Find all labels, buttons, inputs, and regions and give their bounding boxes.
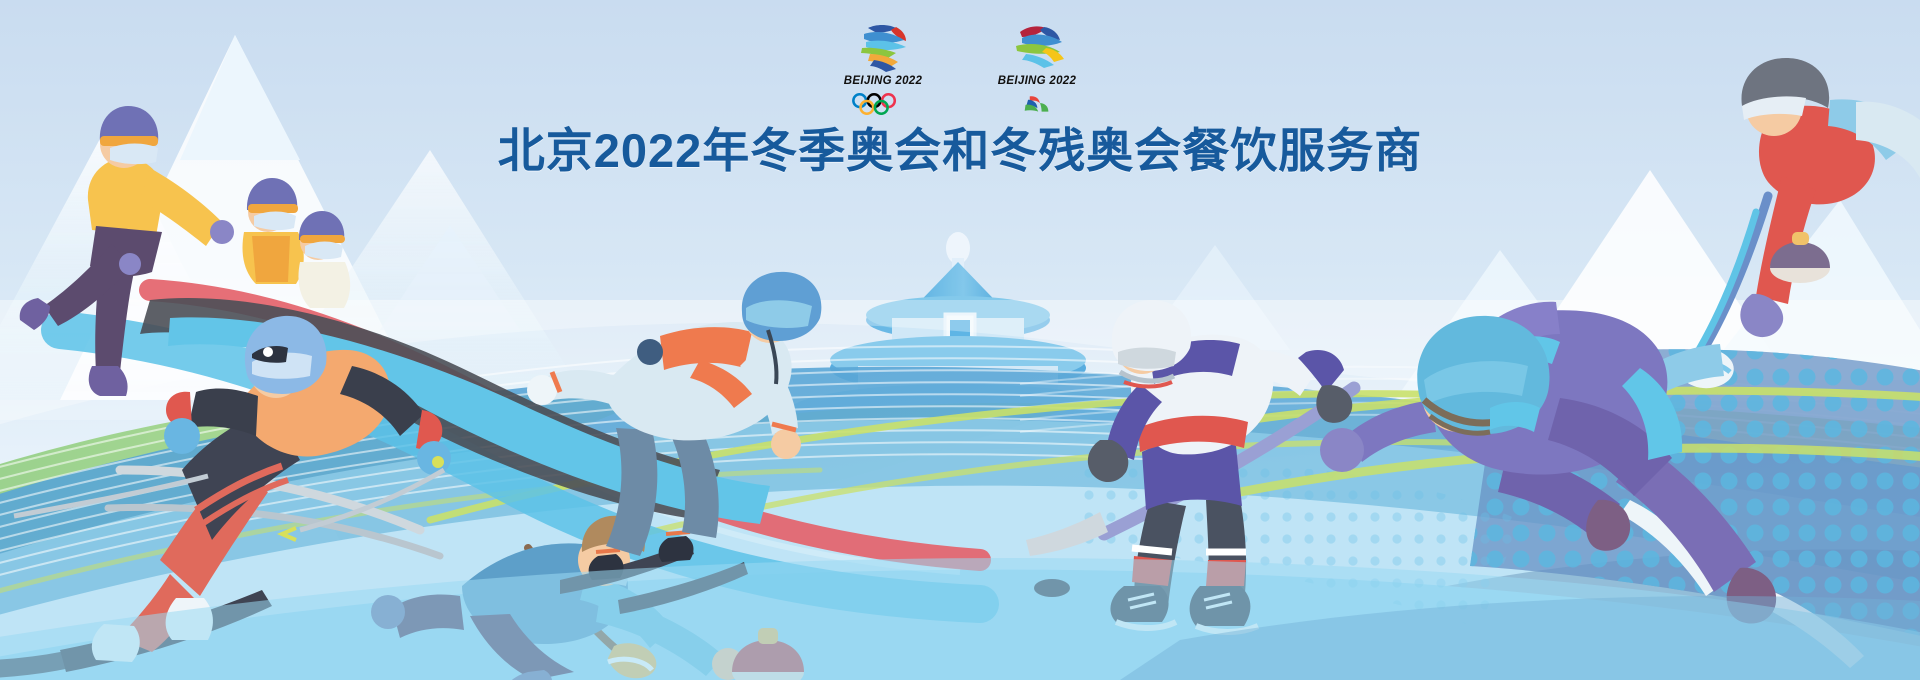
olympic-wordmark: BEIJING 2022 [844,76,922,88]
paralympic-emblem-icon [1000,22,1074,74]
banner-title: 北京2022年冬季奥会和冬残奥会餐饮服务商 [0,120,1920,182]
beijing-2022-banner: BEIJING 2022 BEIJING 2022 [0,0,1920,680]
paralympic-wordmark: BEIJING 2022 [998,76,1076,88]
olympic-emblem-icon [846,22,920,74]
agitos-icon [1001,93,1072,115]
olympic-emblem: BEIJING 2022 [837,22,929,115]
emblem-row: BEIJING 2022 BEIJING 2022 [0,22,1920,115]
olympic-rings-icon [847,93,918,115]
paralympic-emblem: BEIJING 2022 [991,22,1083,115]
